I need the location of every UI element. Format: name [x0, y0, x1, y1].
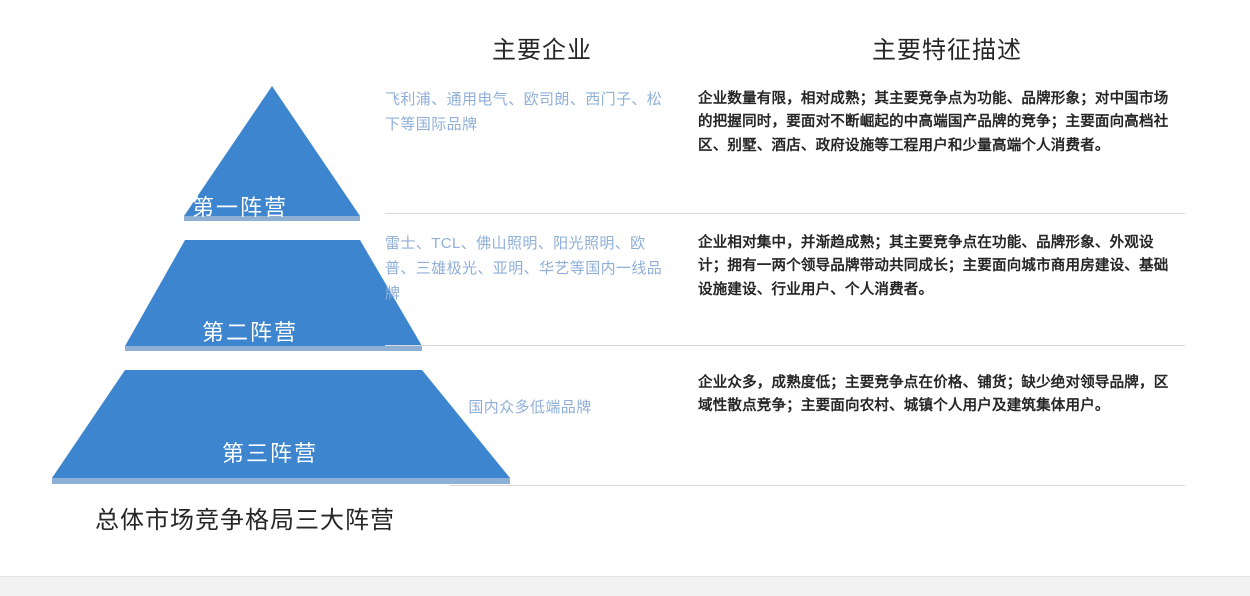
tier-1-companies-text: 飞利浦、通用电气、欧司朗、西门子、松下等国际品牌 [385, 88, 675, 138]
tier-row-2: 雷士、TCL、佛山照明、阳光照明、欧普、三雄极光、亚明、华艺等国内一线品牌 企业… [385, 232, 1205, 345]
row-separator-1 [385, 213, 1185, 214]
tier-row-3: 国内众多低端品牌 企业众多，成熟度低；主要竞争点在价格、铺货；缺少绝对领导品牌，… [385, 372, 1205, 485]
tier-3-companies-text: 国内众多低端品牌 [385, 372, 675, 421]
tier-2-features-text: 企业相对集中，并渐趋成熟；其主要竞争点在功能、品牌形象、外观设计；拥有一两个领导… [698, 232, 1180, 302]
diagram-caption: 总体市场竞争格局三大阵营 [95, 500, 395, 535]
column-header-features: 主要特征描述 [872, 30, 1022, 65]
column-header-companies: 主要企业 [492, 30, 592, 65]
tier-row-1: 飞利浦、通用电气、欧司朗、西门子、松下等国际品牌 企业数量有限，相对成熟；其主要… [385, 88, 1205, 213]
row-separator-3 [450, 485, 1185, 486]
tier-3-features-text: 企业众多，成熟度低；主要竞争点在价格、铺货；缺少绝对领导品牌，区域性散点竞争；主… [698, 372, 1180, 419]
pyramid-tier-1-label: 第一阵营 [40, 190, 440, 222]
tier-1-features-text: 企业数量有限，相对成熟；其主要竞争点为功能、品牌形象；对中国市场的把握同时，要面… [698, 88, 1180, 158]
row-separator-2 [385, 345, 1185, 346]
tier-2-companies-text: 雷士、TCL、佛山照明、阳光照明、欧普、三雄极光、亚明、华艺等国内一线品牌 [385, 232, 675, 306]
slide-canvas: 主要企业 主要特征描述 第一阵营 第二阵营 第三阵营 飞利浦、通用电气、欧司朗、… [0, 0, 1250, 596]
page-bottom-strip [0, 576, 1250, 596]
